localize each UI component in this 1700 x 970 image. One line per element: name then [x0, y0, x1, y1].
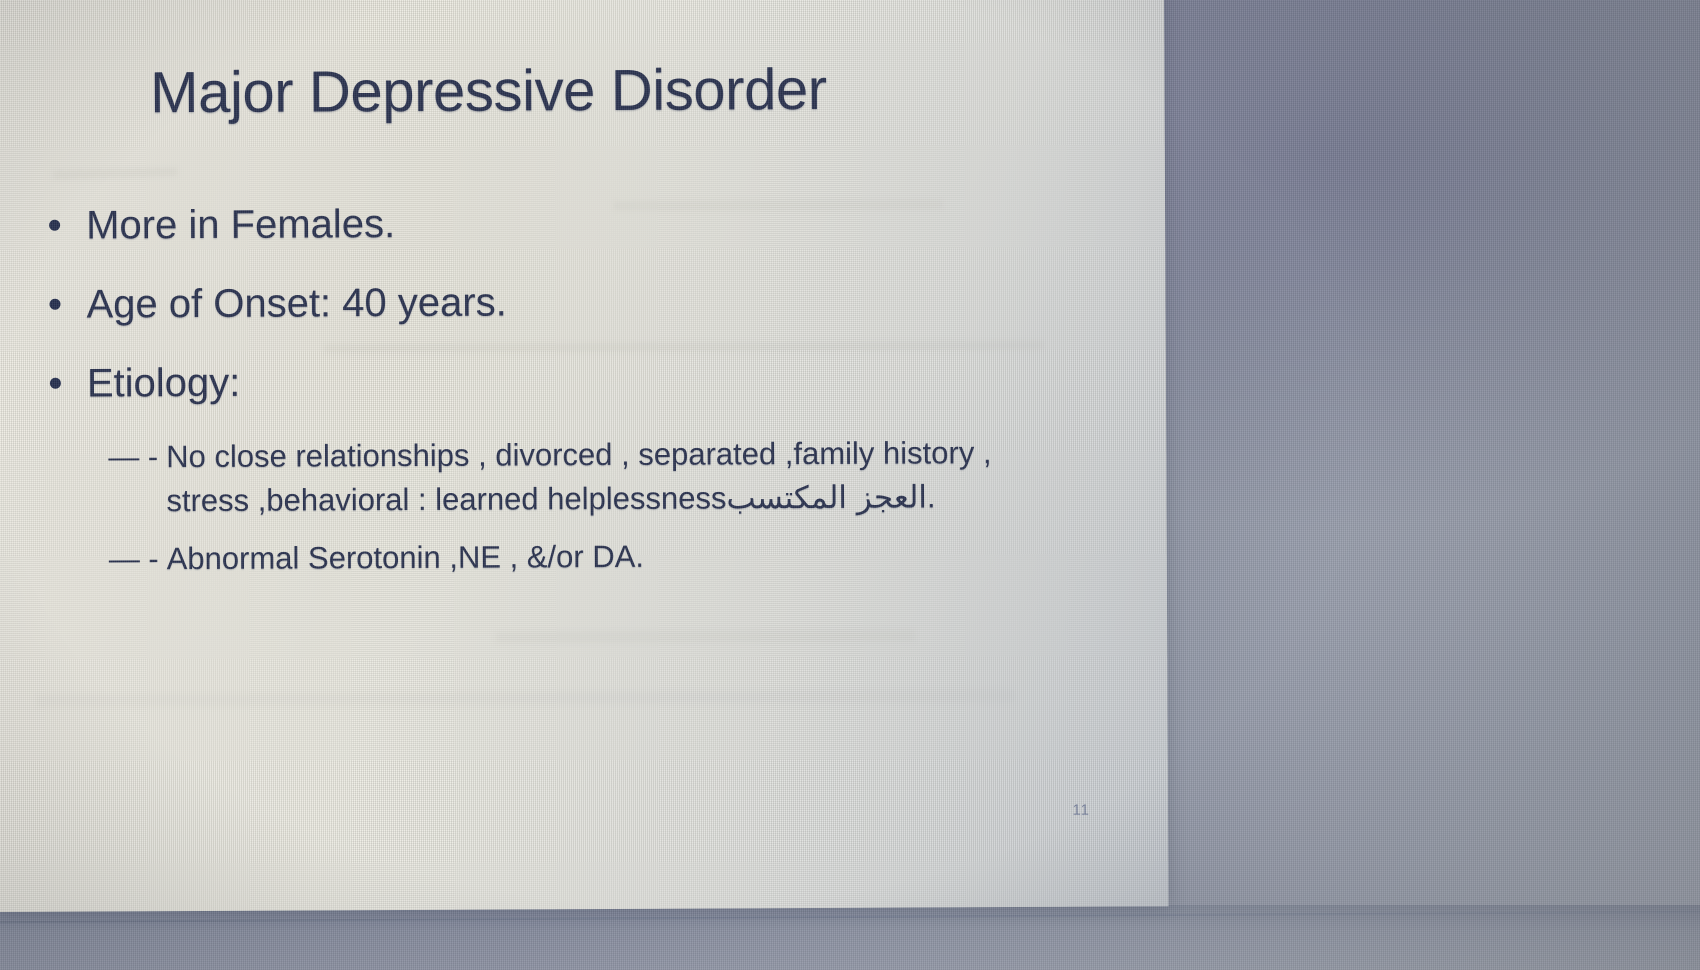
- slide-title: Major Depressive Disorder: [0, 54, 1165, 127]
- etiology-sublist: — - No close relationships , divorced , …: [108, 431, 1047, 582]
- bullet-label: Etiology:: [87, 356, 241, 410]
- slide-body: More in Females. Age of Onset: 40 years.…: [49, 195, 1047, 596]
- sub-bullet-label: Abnormal Serotonin ,NE , &/or DA.: [167, 535, 644, 581]
- sub-bullet-text-arabic: العجز المكتسب: [726, 480, 927, 517]
- sub-bullet-psychosocial: — - No close relationships , divorced , …: [108, 431, 1046, 524]
- bullet-item-age-of-onset: Age of Onset: 40 years.: [49, 274, 1045, 332]
- sub-bullet-text-trailing: .: [927, 480, 936, 515]
- sub-bullet-neurotransmitters: — - Abnormal Serotonin ,NE , &/or DA.: [109, 533, 1047, 582]
- desk-edge-band: [0, 905, 1700, 970]
- bullet-item-etiology: Etiology:: [50, 352, 1046, 410]
- bullet-label: Age of Onset: 40 years.: [86, 276, 506, 331]
- sub-bullet-label: No close relationships , divorced , sepa…: [166, 431, 996, 523]
- bullet-dot-icon: [50, 377, 61, 388]
- screenshot-root: Major Depressive Disorder More in Female…: [0, 0, 1700, 970]
- dash-marker-icon: — -: [109, 538, 159, 582]
- bullet-label: More in Females.: [86, 198, 395, 252]
- slide-number: 11: [1072, 802, 1090, 819]
- bullet-item-more-in-females: More in Females.: [49, 195, 1045, 253]
- bullet-dot-icon: [49, 298, 60, 309]
- bullet-dot-icon: [49, 220, 60, 231]
- presentation-slide: Major Depressive Disorder More in Female…: [0, 0, 1168, 912]
- dash-marker-icon: — -: [108, 436, 158, 480]
